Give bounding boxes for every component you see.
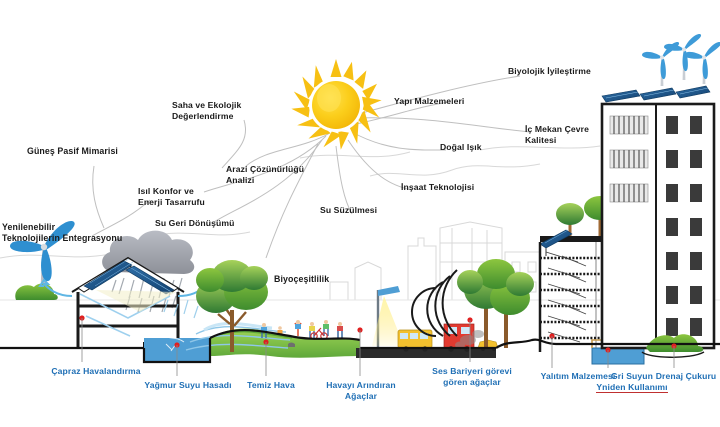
label-dogal-isik: Doğal Işık <box>440 142 520 153</box>
label-havayi-arindiran: Havayı Arındıran Ağaçlar <box>315 380 407 401</box>
stream-and-green-bank <box>186 324 360 358</box>
label-gunes-pasif-mimarisi: Güneş Pasif Mimarisi <box>27 146 147 157</box>
label-capraz-havalandirma: Çapraz Havalandırma <box>36 366 156 377</box>
wind-turbine-roof-3 <box>684 42 720 84</box>
label-biyocesitlilik: Biyoçeşitlilik <box>274 274 364 285</box>
label-arazi-cozunurlugu-analizi: Arazi Çözünürlüğü Analizi <box>226 164 338 185</box>
infographic-canvas: Güneş Pasif MimarisiSaha ve Ekolojik Değ… <box>0 0 720 427</box>
person <box>295 320 301 336</box>
label-saha-ve-ekolojik: Saha ve Ekolojik Değerlendirme <box>172 100 292 121</box>
label-gri-suyun-yeniden-line2: Yniden Kullanımı <box>596 382 667 393</box>
label-isil-konfor-enerji-tasarrufu: Isıl Konfor ve Enerji Tasarrufu <box>138 186 248 207</box>
label-temiz-hava: Temiz Hava <box>233 380 309 391</box>
label-su-geri-donusumu: Su Geri Dönüşümü <box>155 218 275 229</box>
label-ic-mekan-cevre-kalitesi: İç Mekan Çevre Kalitesi <box>525 124 635 145</box>
label-biyolojik-iyilestirme: Biyolojik İyileştirme <box>508 66 628 77</box>
label-yenilenebilir-teknolojiler: Yenilenebilir Teknolojilerin Entegrasyon… <box>2 222 152 243</box>
label-yapi-malzemeleri: Yapı Malzemeleri <box>394 96 504 107</box>
solar-panel-midrise <box>540 230 572 256</box>
label-drenaj-cukuru: Drenaj Çukuru <box>645 371 720 382</box>
label-yagmur-suyu-hasadi: Yağmur Suyu Hasadı <box>132 380 244 391</box>
label-su-suzulmesi: Su Süzülmesi <box>320 205 420 216</box>
label-ses-bariyeri: Ses Bariyeri görevi gören ağaçlar <box>420 366 524 387</box>
solar-panel-tower-roof <box>602 86 710 102</box>
sun-icon <box>291 59 381 150</box>
tall-tower <box>602 34 720 348</box>
label-insaat-teknolojisi: İnşaat Teknolojisi <box>401 182 511 193</box>
daylight-arrows <box>546 252 586 342</box>
